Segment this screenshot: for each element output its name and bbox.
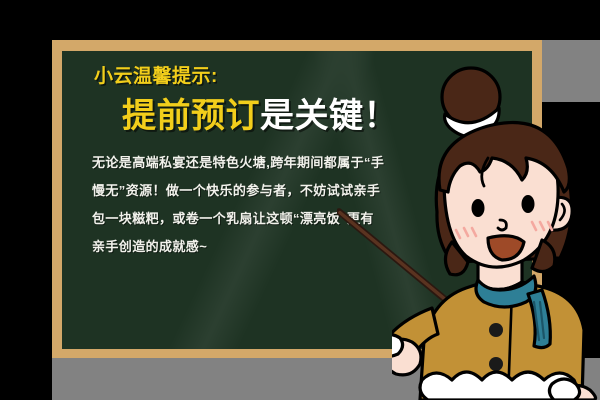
- body-line: 慢无”资源！做一个快乐的参与者，不妨试试亲手: [92, 177, 422, 205]
- headline-rest: 是关键！: [260, 97, 398, 135]
- headline-highlight: 提前预订: [122, 97, 260, 135]
- body-line: 无论是高端私宴还是特色火塘,跨年期间都属于“手: [92, 149, 422, 177]
- character-illustration: [392, 62, 600, 400]
- screenshot-root: 小云温馨提示: 提前预订是关键！ 无论是高端私宴还是特色火塘,跨年期间都属于“手…: [0, 0, 600, 400]
